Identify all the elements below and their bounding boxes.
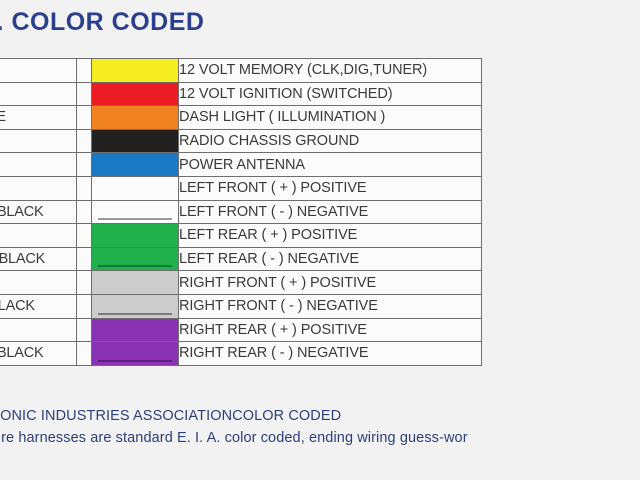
table-row: NGEDASH LIGHT ( ILLUMINATION ) bbox=[0, 106, 482, 130]
page-title: A. COLOR CODED bbox=[0, 8, 204, 37]
swatch-fill bbox=[92, 201, 178, 224]
wire-function-description: DASH LIGHT ( ILLUMINATION ) bbox=[179, 106, 482, 130]
wire-color-swatch bbox=[92, 176, 179, 200]
table-row: Y/BLACKRIGHT FRONT ( - ) NEGATIVE bbox=[0, 294, 482, 318]
swatch-tracer-stripe bbox=[98, 265, 172, 267]
wire-color-label: Y bbox=[0, 271, 77, 295]
swatch-fill bbox=[92, 248, 178, 271]
table-row: 12 VOLT IGNITION (SWITCHED) bbox=[0, 82, 482, 106]
wire-function-description: RIGHT FRONT ( - ) NEGATIVE bbox=[179, 294, 482, 318]
wire-color-swatch bbox=[92, 224, 179, 248]
swatch-fill bbox=[92, 153, 178, 176]
wire-color-label bbox=[0, 82, 77, 106]
wire-function-description: RIGHT FRONT ( + ) POSITIVE bbox=[179, 271, 482, 295]
wire-color-label: CK bbox=[0, 129, 77, 153]
wire-color-label: OW bbox=[0, 59, 77, 83]
table-row: OW12 VOLT MEMORY (CLK,DIG,TUNER) bbox=[0, 59, 482, 83]
wire-color-label: ET bbox=[0, 318, 77, 342]
spacer-cell bbox=[77, 82, 92, 106]
wire-color-swatch bbox=[92, 318, 179, 342]
wire-color-label: EN bbox=[0, 224, 77, 248]
spacer-cell bbox=[77, 318, 92, 342]
spacer-cell bbox=[77, 271, 92, 295]
spacer-cell bbox=[77, 153, 92, 177]
footer-line-2: ur wire harnesses are standard E. I. A. … bbox=[0, 430, 468, 446]
wire-color-label: TE/BLACK bbox=[0, 200, 77, 224]
table-row: ET/BLACKRIGHT REAR ( - ) NEGATIVE bbox=[0, 342, 482, 366]
swatch-fill bbox=[92, 106, 178, 129]
wire-function-description: LEFT FRONT ( - ) NEGATIVE bbox=[179, 200, 482, 224]
table-row: ETRIGHT REAR ( + ) POSITIVE bbox=[0, 318, 482, 342]
table-body: OW12 VOLT MEMORY (CLK,DIG,TUNER)12 VOLT … bbox=[0, 59, 482, 366]
swatch-tracer-stripe bbox=[98, 218, 172, 220]
wire-color-swatch bbox=[92, 106, 179, 130]
wire-function-description: 12 VOLT IGNITION (SWITCHED) bbox=[179, 82, 482, 106]
spacer-cell bbox=[77, 106, 92, 130]
wire-function-description: POWER ANTENNA bbox=[179, 153, 482, 177]
wire-color-swatch bbox=[92, 200, 179, 224]
swatch-fill bbox=[92, 83, 178, 106]
swatch-tracer-stripe bbox=[98, 313, 172, 315]
table-row: ENLEFT REAR ( + ) POSITIVE bbox=[0, 224, 482, 248]
wire-color-swatch bbox=[92, 129, 179, 153]
wire-color-label: ET/BLACK bbox=[0, 342, 77, 366]
wire-function-description: RIGHT REAR ( + ) POSITIVE bbox=[179, 318, 482, 342]
wire-function-description: 12 VOLT MEMORY (CLK,DIG,TUNER) bbox=[179, 59, 482, 83]
table-row: CKRADIO CHASSIS GROUND bbox=[0, 129, 482, 153]
wire-color-swatch bbox=[92, 294, 179, 318]
swatch-fill bbox=[92, 177, 178, 200]
wire-function-description: RIGHT REAR ( - ) NEGATIVE bbox=[179, 342, 482, 366]
swatch-fill bbox=[92, 342, 178, 365]
swatch-fill bbox=[92, 59, 178, 82]
spacer-cell bbox=[77, 129, 92, 153]
spacer-cell bbox=[77, 342, 92, 366]
table-row: EPOWER ANTENNA bbox=[0, 153, 482, 177]
wire-function-description: LEFT REAR ( - ) NEGATIVE bbox=[179, 247, 482, 271]
spacer-cell bbox=[77, 294, 92, 318]
table-row: YRIGHT FRONT ( + ) POSITIVE bbox=[0, 271, 482, 295]
spacer-cell bbox=[77, 59, 92, 83]
wire-color-label: Y/BLACK bbox=[0, 294, 77, 318]
wire-function-description: LEFT REAR ( + ) POSITIVE bbox=[179, 224, 482, 248]
wire-function-description: RADIO CHASSIS GROUND bbox=[179, 129, 482, 153]
wire-color-swatch bbox=[92, 153, 179, 177]
wire-color-swatch bbox=[92, 342, 179, 366]
footer-line-1: CTRONIC INDUSTRIES ASSOCIATIONCOLOR CODE… bbox=[0, 408, 468, 424]
wire-color-label: TE bbox=[0, 176, 77, 200]
footer-note: CTRONIC INDUSTRIES ASSOCIATIONCOLOR CODE… bbox=[0, 408, 468, 446]
swatch-fill bbox=[92, 295, 178, 318]
wire-color-label: E bbox=[0, 153, 77, 177]
wire-color-code-table: OW12 VOLT MEMORY (CLK,DIG,TUNER)12 VOLT … bbox=[0, 58, 482, 366]
spacer-cell bbox=[77, 200, 92, 224]
wire-color-label: NGE bbox=[0, 106, 77, 130]
swatch-fill bbox=[92, 271, 178, 294]
wire-color-swatch bbox=[92, 247, 179, 271]
table-row: EN/BLACKLEFT REAR ( - ) NEGATIVE bbox=[0, 247, 482, 271]
table-row: TELEFT FRONT ( + ) POSITIVE bbox=[0, 176, 482, 200]
spacer-cell bbox=[77, 224, 92, 248]
spacer-cell bbox=[77, 247, 92, 271]
spacer-cell bbox=[77, 176, 92, 200]
table-row: TE/BLACKLEFT FRONT ( - ) NEGATIVE bbox=[0, 200, 482, 224]
wire-color-swatch bbox=[92, 271, 179, 295]
wire-function-description: LEFT FRONT ( + ) POSITIVE bbox=[179, 176, 482, 200]
swatch-tracer-stripe bbox=[98, 360, 172, 362]
wire-color-swatch bbox=[92, 82, 179, 106]
wire-color-swatch bbox=[92, 59, 179, 83]
swatch-fill bbox=[92, 130, 178, 153]
swatch-fill bbox=[92, 224, 178, 247]
swatch-fill bbox=[92, 319, 178, 342]
wire-color-label: EN/BLACK bbox=[0, 247, 77, 271]
